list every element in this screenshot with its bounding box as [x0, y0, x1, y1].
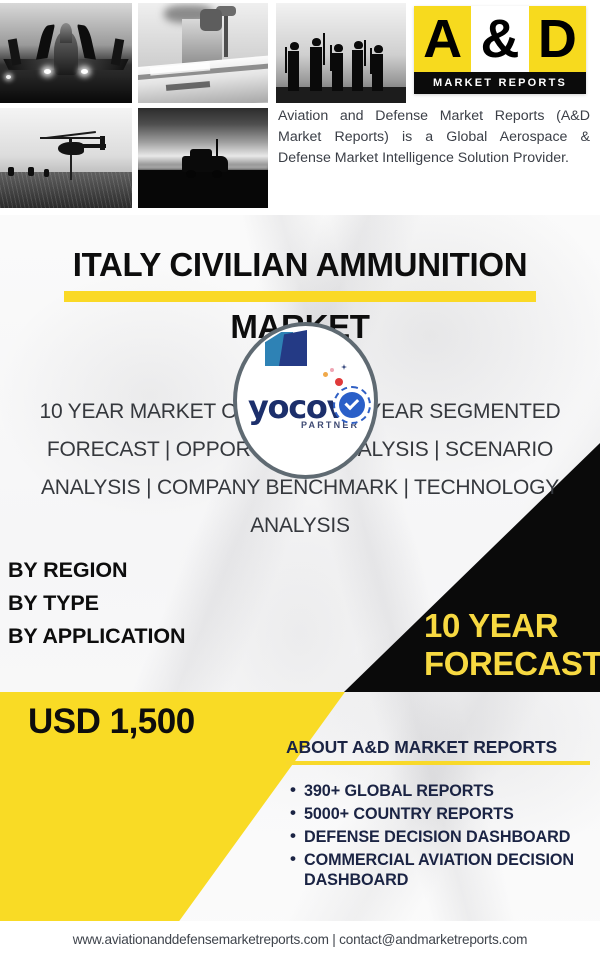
- title-underline-rule: [64, 291, 536, 302]
- footer-contact-bar: www.aviationanddefensemarketreports.com …: [0, 921, 600, 957]
- armored-vehicle-photo: [138, 108, 268, 208]
- forecast-callout: 10 YEAR FORECAST: [424, 607, 600, 683]
- about-heading-underline: [286, 761, 590, 765]
- logo-letter-d: D: [529, 6, 586, 72]
- yocova-dot-orange: [323, 372, 328, 377]
- segmentation-item-region: BY REGION: [8, 554, 185, 587]
- soldiers-silhouette-photo: [276, 3, 406, 103]
- and-market-reports-logo: A & D MARKET REPORTS: [414, 6, 586, 94]
- forecast-line1: 10 YEAR: [424, 607, 600, 645]
- logo-letter-ampersand: &: [471, 6, 528, 72]
- yocova-dot-pink: [330, 368, 334, 372]
- yocova-partner-badge: yocova PARTNER: [233, 322, 378, 479]
- header-photo-strip: A & D MARKET REPORTS Aviation and Defens…: [0, 0, 600, 215]
- report-poster: A & D MARKET REPORTS Aviation and Defens…: [0, 0, 600, 957]
- logo-tagline: MARKET REPORTS: [414, 72, 586, 94]
- about-panel: ABOUT A&D MARKET REPORTS 390+ GLOBAL REP…: [286, 737, 590, 893]
- price-label: USD 1,500: [28, 702, 195, 742]
- yocova-dot-red: [335, 378, 343, 386]
- sparkle-icon: [341, 364, 347, 370]
- naval-ship-photo: [138, 3, 268, 103]
- list-item: 390+ GLOBAL REPORTS: [304, 781, 590, 801]
- forecast-line2: FORECAST: [424, 645, 600, 683]
- company-intro-paragraph: Aviation and Defense Market Reports (A&D…: [278, 106, 590, 169]
- report-title-line1: ITALY CIVILIAN AMMUNITION: [0, 246, 600, 284]
- logo-letter-a: A: [414, 6, 471, 72]
- verified-check-icon: [333, 386, 371, 424]
- about-heading: ABOUT A&D MARKET REPORTS: [286, 737, 590, 761]
- footer-contact-text[interactable]: www.aviationanddefensemarketreports.com …: [73, 932, 527, 947]
- list-item: 5000+ COUNTRY REPORTS: [304, 804, 590, 824]
- segmentation-list: BY REGION BY TYPE BY APPLICATION: [8, 554, 185, 653]
- segmentation-item-application: BY APPLICATION: [8, 620, 185, 653]
- segmentation-item-type: BY TYPE: [8, 587, 185, 620]
- about-bullet-list: 390+ GLOBAL REPORTS 5000+ COUNTRY REPORT…: [286, 781, 590, 890]
- helicopter-photo: [0, 108, 132, 208]
- list-item: DEFENSE DECISION DASHBOARD: [304, 827, 590, 847]
- list-item: COMMERCIAL AVIATION DECISION DASHBOARD: [304, 850, 590, 890]
- fighter-jet-photo: [0, 3, 132, 103]
